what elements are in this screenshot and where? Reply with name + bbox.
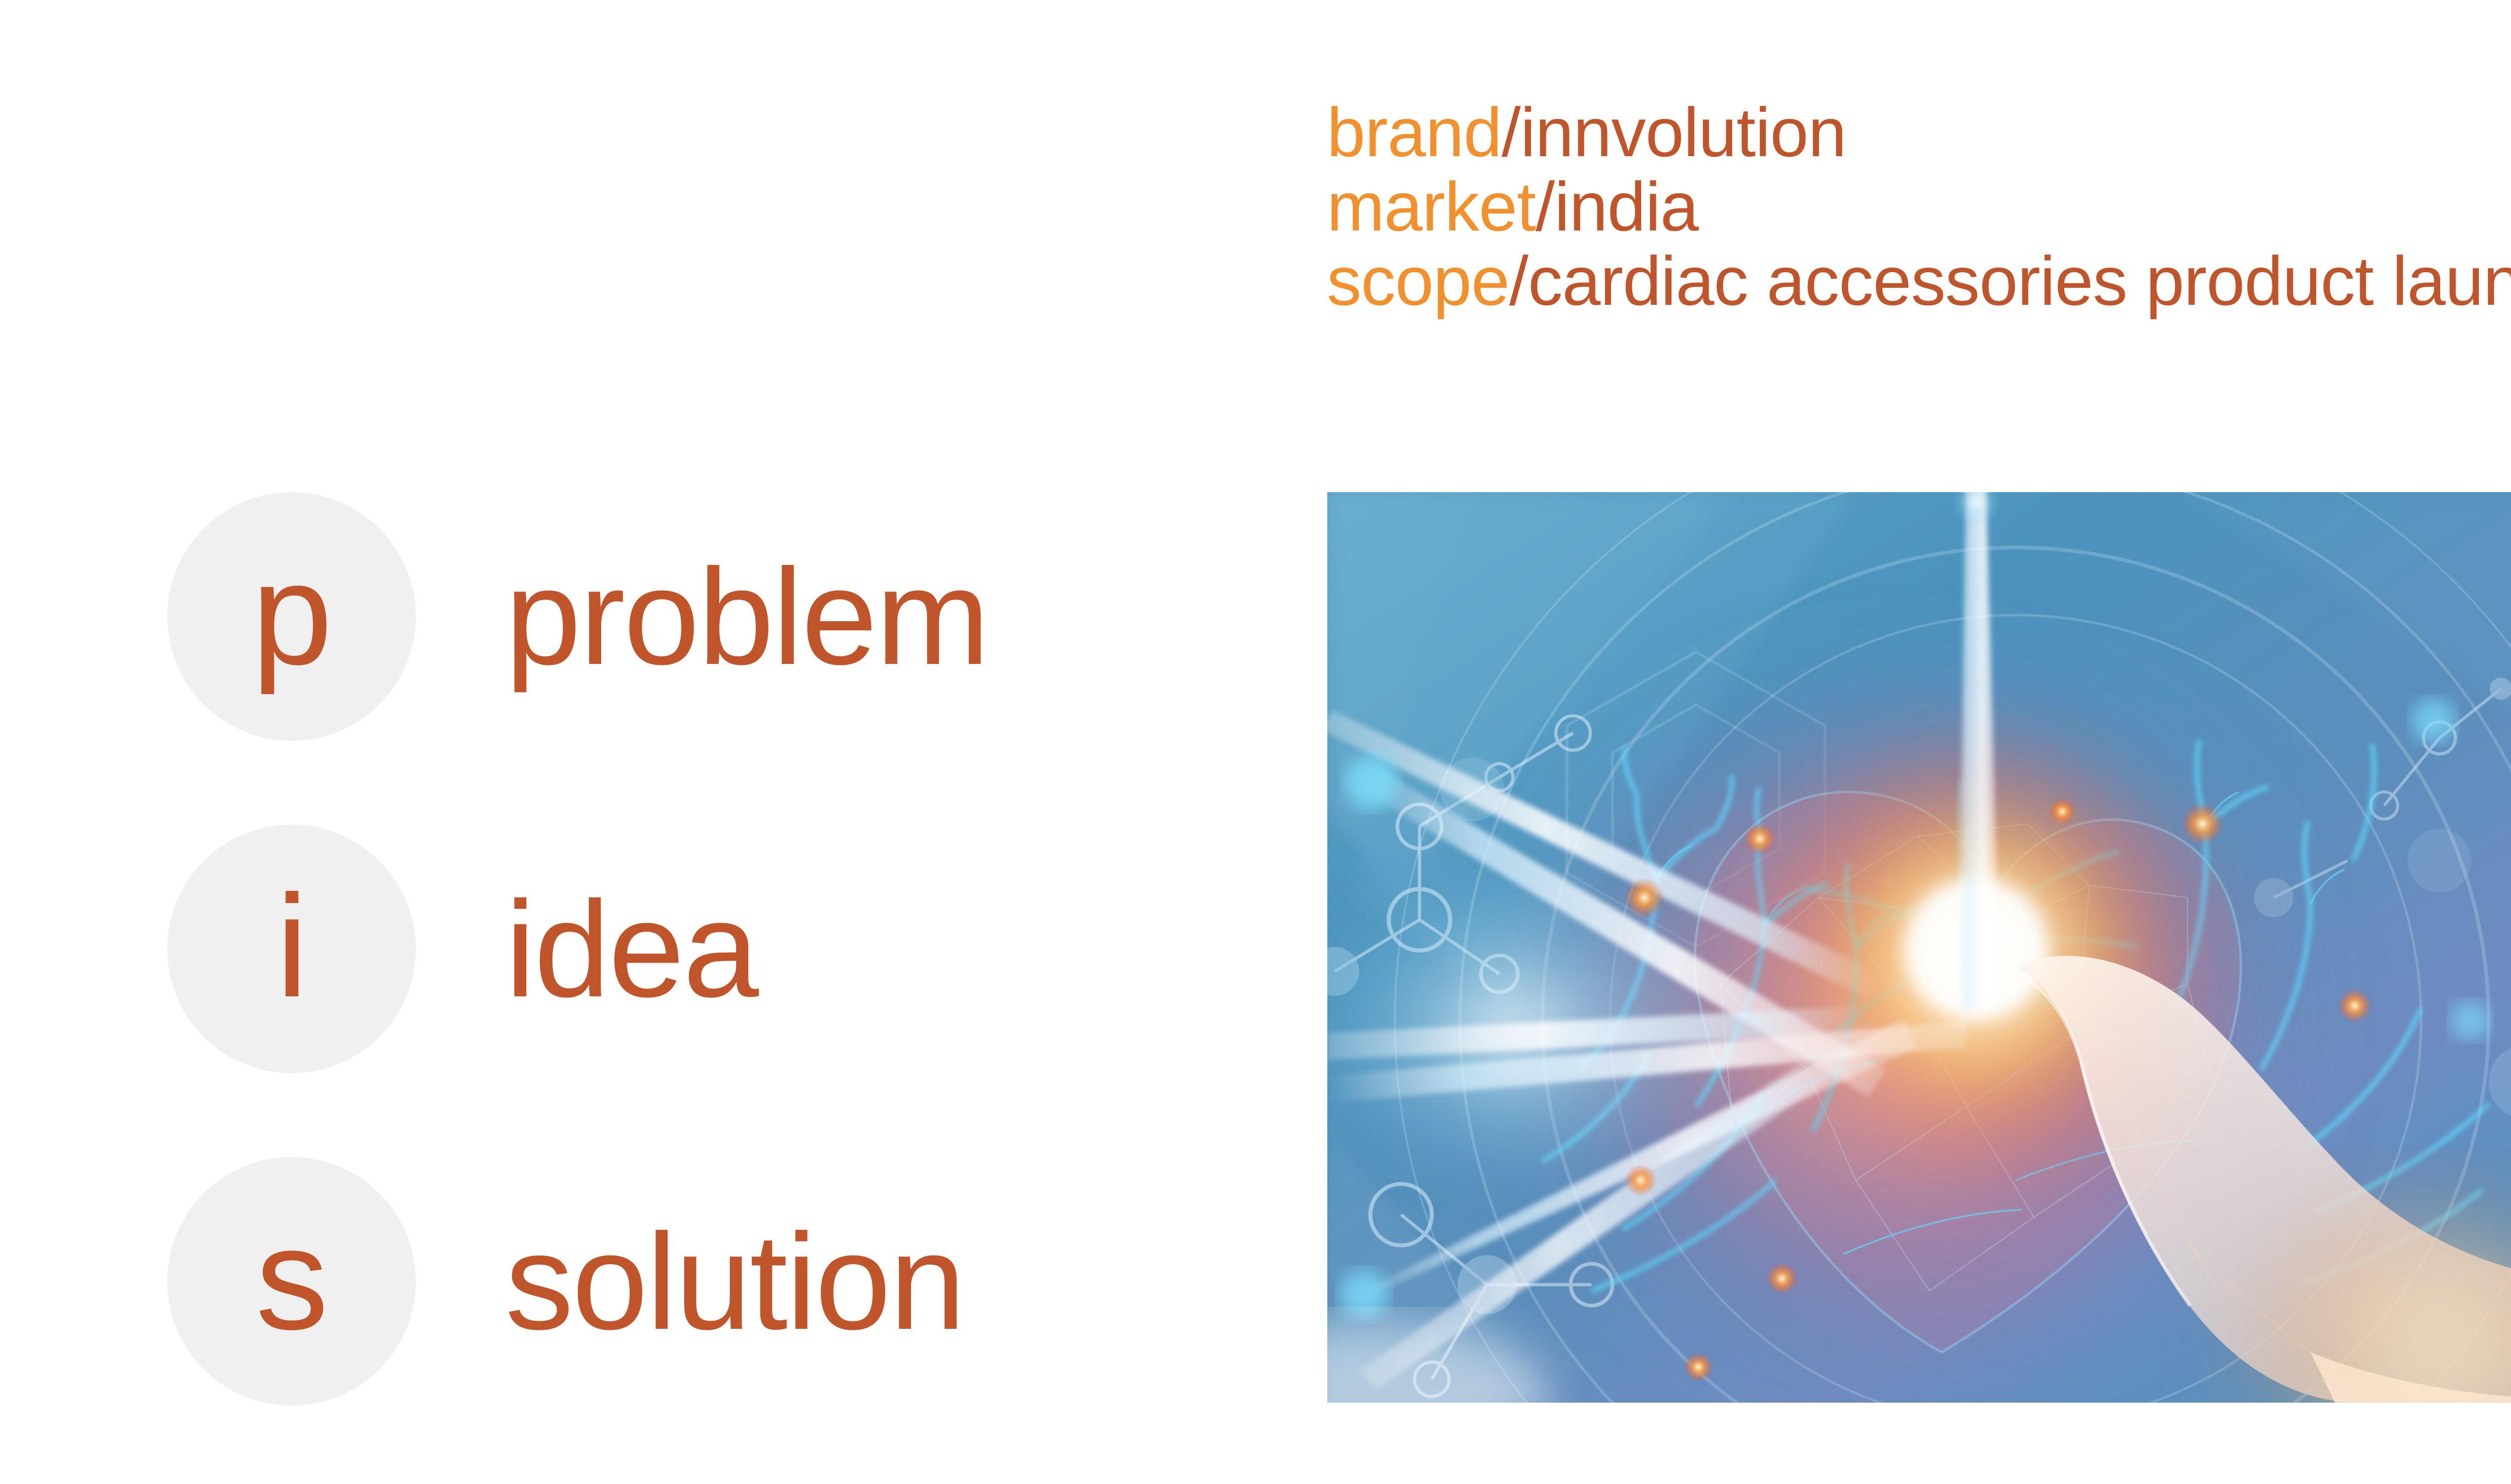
meta-value-brand: innvolution [1520, 94, 1846, 171]
pillar-initial-solution: s [256, 1206, 327, 1351]
hero-illustration [1327, 492, 2511, 1403]
meta-key-scope: scope [1327, 243, 1509, 320]
pillar-label-idea: idea [505, 825, 757, 1073]
pillar-badge-solution: s [167, 1157, 416, 1406]
meta-separator-scope: / [1509, 243, 1528, 320]
pillar-row-solution[interactable]: s solution [0, 1157, 1205, 1406]
meta-key-market: market [1327, 168, 1536, 246]
pillar-initial-problem: p [252, 541, 331, 687]
meta-separator-market: / [1536, 168, 1554, 246]
meta-key-brand: brand [1327, 94, 1502, 171]
pillar-row-idea[interactable]: i idea [0, 825, 1205, 1073]
meta-line-brand: brand/innvolution [1327, 95, 2511, 170]
meta-line-scope: scope/cardiac accessories product launch [1327, 244, 2511, 318]
meta-separator-brand: / [1502, 94, 1520, 171]
pillar-initial-idea: i [276, 873, 307, 1019]
pillar-badge-problem: p [167, 492, 416, 741]
meta-line-market: market/india [1327, 170, 2511, 244]
pillar-badge-idea: i [167, 825, 416, 1073]
pillar-list: p problem i idea s solution [0, 492, 1205, 1406]
hero-image-cardiac-heart [1327, 492, 2511, 1403]
pillar-label-problem: problem [505, 492, 988, 741]
pillar-row-problem[interactable]: p problem [0, 492, 1205, 741]
project-meta-block: brand/innvolution market/india scope/car… [1327, 95, 2511, 318]
meta-value-market: india [1554, 168, 1698, 246]
meta-value-scope: cardiac accessories product launch [1528, 243, 2511, 320]
pillar-label-solution: solution [505, 1157, 964, 1406]
